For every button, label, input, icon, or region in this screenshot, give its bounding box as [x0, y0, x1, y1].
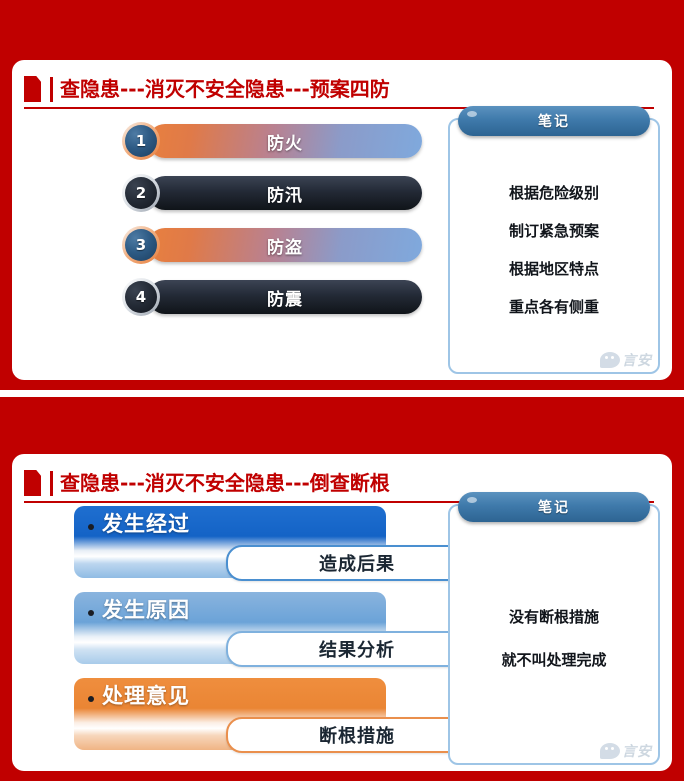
notes-header-2: 笔记	[458, 492, 650, 522]
watermark-label-2: 言安	[622, 741, 652, 761]
page-title: 查隐患---消灭不安全隐患---倒查断根	[60, 473, 390, 493]
note-line: 根据地区特点	[509, 258, 599, 279]
list-item[interactable]: 防震 4	[122, 278, 422, 316]
notes-header-label-2: 笔记	[538, 497, 570, 517]
slide-1-title-row: 查隐患---消灭不安全隐患---预案四防	[24, 72, 654, 106]
gloss-highlight	[467, 111, 477, 117]
note-line: 没有断根措施	[509, 606, 599, 627]
notes-header-label-1: 笔记	[538, 111, 570, 131]
number-badge-4: 4	[122, 278, 160, 316]
notes-body-2: 没有断根措施 就不叫处理完成	[456, 540, 652, 735]
flag-icon	[24, 470, 41, 496]
slide-2-card: 查隐患---消灭不安全隐患---倒查断根 发生经过 造成后果	[12, 454, 672, 771]
list-item[interactable]: 防盗 3	[122, 226, 422, 264]
page-title: 查隐患---消灭不安全隐患---预案四防	[60, 79, 390, 99]
bullet-icon	[88, 610, 94, 616]
badge-number-2: 2	[136, 186, 146, 201]
slide-deck: 查隐患---消灭不安全隐患---预案四防 防火 1 防汛	[0, 0, 684, 781]
slide-1: 查隐患---消灭不安全隐患---预案四防 防火 1 防汛	[0, 0, 684, 390]
gloss-highlight	[467, 497, 477, 503]
title-divider	[50, 471, 53, 496]
prevention-label-4: 防震	[267, 285, 303, 310]
note-line: 就不叫处理完成	[501, 649, 606, 670]
note-line: 根据危险级别	[509, 182, 599, 203]
wechat-icon	[600, 352, 620, 368]
prevention-bar-4[interactable]: 防震	[148, 280, 422, 314]
prevention-bar-2[interactable]: 防汛	[148, 176, 422, 210]
list-item[interactable]: 防火 1	[122, 122, 422, 160]
badge-number-3: 3	[136, 238, 146, 253]
bullet-icon	[88, 696, 94, 702]
group-plate-label-1: 发生经过	[102, 513, 190, 536]
number-badge-2: 2	[122, 174, 160, 212]
prevention-bar-3[interactable]: 防盗	[148, 228, 422, 262]
notes-header-1: 笔记	[458, 106, 650, 136]
note-line: 制订紧急预案	[509, 220, 599, 241]
title-divider	[50, 77, 53, 102]
flag-icon	[24, 76, 41, 102]
prevention-label-2: 防汛	[267, 181, 303, 206]
group-pill-label-2: 结果分析	[319, 636, 395, 662]
notes-panel-2: 笔记 没有断根措施 就不叫处理完成 言安	[448, 504, 660, 765]
group-pill-label-1: 造成后果	[319, 550, 395, 576]
wechat-icon	[600, 743, 620, 759]
slide-1-card: 查隐患---消灭不安全隐患---预案四防 防火 1 防汛	[12, 60, 672, 380]
investigation-groups: 发生经过 造成后果 发生原因 结果分析	[74, 506, 484, 764]
group-plate-label-2: 发生原因	[102, 599, 190, 622]
badge-number-1: 1	[136, 134, 146, 149]
bullet-icon	[88, 524, 94, 530]
list-item[interactable]: 发生原因 结果分析	[74, 592, 484, 670]
group-pill-label-3: 断根措施	[319, 722, 395, 748]
group-plate-label-3: 处理意见	[102, 685, 190, 708]
list-item[interactable]: 防汛 2	[122, 174, 422, 212]
number-badge-1: 1	[122, 122, 160, 160]
watermark-label-1: 言安	[622, 350, 652, 370]
list-item[interactable]: 处理意见 断根措施	[74, 678, 484, 756]
prevention-label-1: 防火	[267, 129, 303, 154]
prevention-bar-1[interactable]: 防火	[148, 124, 422, 158]
prevention-list: 防火 1 防汛 2	[122, 122, 422, 330]
watermark-1: 言安	[600, 350, 652, 370]
prevention-label-3: 防盗	[267, 233, 303, 258]
notes-panel-1: 笔记 根据危险级别 制订紧急预案 根据地区特点 重点各有侧重 言安	[448, 118, 660, 374]
slide-2: 查隐患---消灭不安全隐患---倒查断根 发生经过 造成后果	[0, 397, 684, 781]
badge-number-4: 4	[136, 290, 146, 305]
notes-body-1: 根据危险级别 制订紧急预案 根据地区特点 重点各有侧重	[456, 154, 652, 344]
number-badge-3: 3	[122, 226, 160, 264]
note-line: 重点各有侧重	[509, 296, 599, 317]
watermark-2: 言安	[600, 741, 652, 761]
list-item[interactable]: 发生经过 造成后果	[74, 506, 484, 584]
